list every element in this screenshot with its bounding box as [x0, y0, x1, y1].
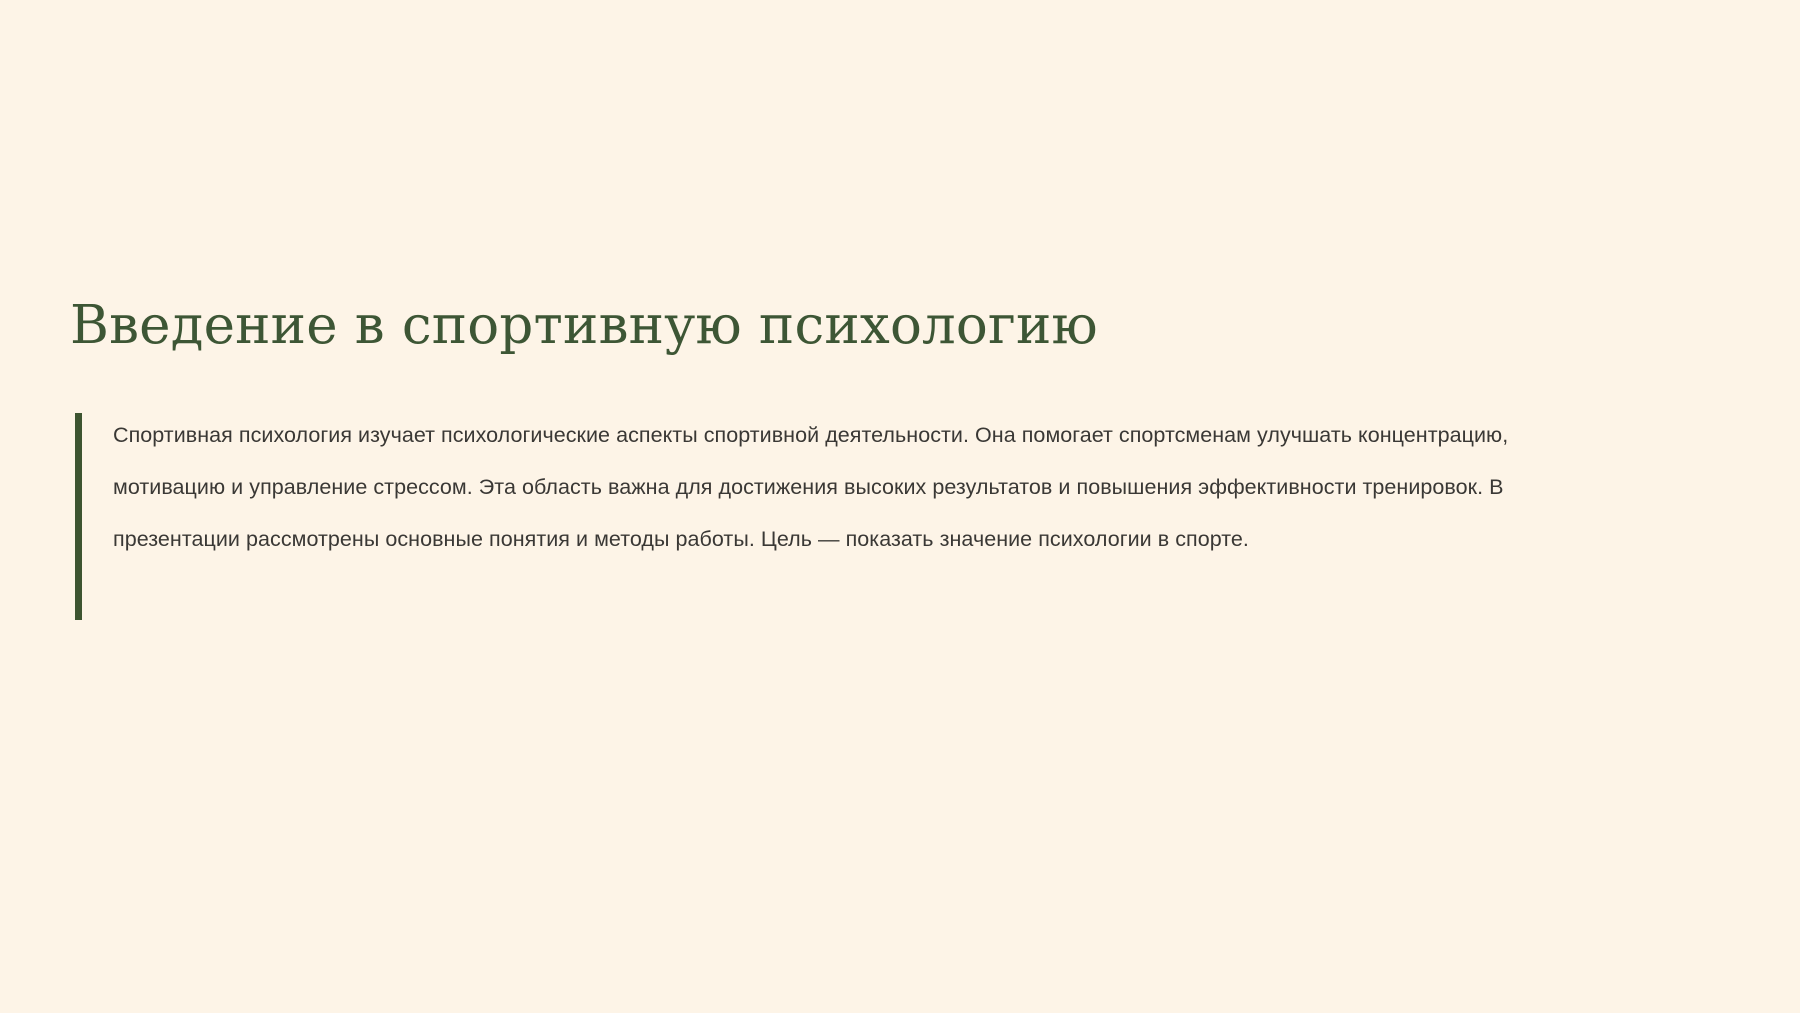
body-paragraph: Спортивная психология изучает психологич…	[113, 409, 1533, 565]
presentation-slide: Введение в спортивную психологию Спортив…	[0, 0, 1800, 1013]
slide-content-area: Введение в спортивную психологию Спортив…	[70, 296, 1550, 565]
body-quote-block: Спортивная психология изучает психологич…	[70, 409, 1550, 565]
page-title: Введение в спортивную психологию	[70, 296, 1550, 355]
accent-bar	[75, 413, 82, 620]
